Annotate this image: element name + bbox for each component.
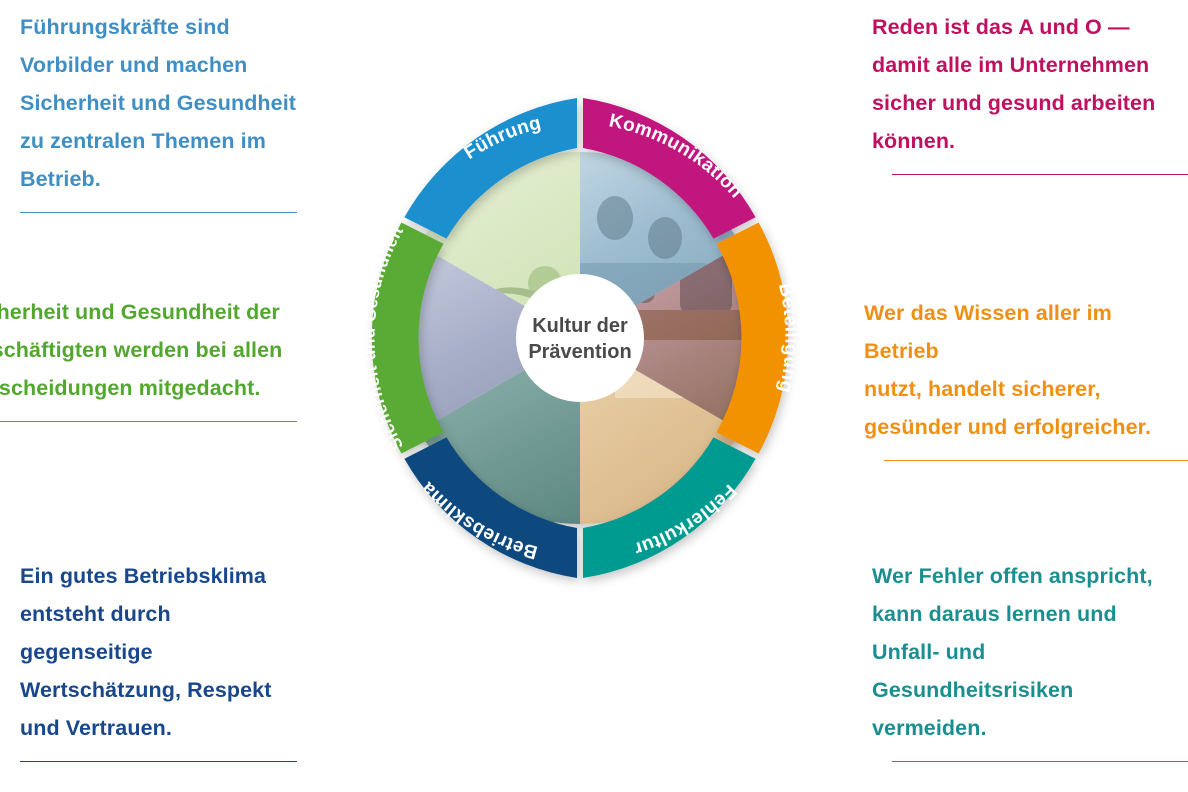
text-block-fuehrung-body: Führungskräfte sind Vorbilder und machen… [20, 8, 297, 198]
text-block-betriebsklima-body: Ein gutes Betriebsklima entsteht durch g… [20, 557, 297, 747]
text-block-sicherheit: Sicherheit und Gesundheit der Beschäftig… [0, 293, 297, 422]
text-block-fehlerkultur: Wer Fehler offen anspricht, kann daraus … [872, 557, 1188, 762]
text-block-fuehrung: Führungskräfte sind Vorbilder und machen… [20, 8, 297, 213]
prevention-culture-wheel: Führung Kommunikation Beteiligung Fehler… [330, 78, 830, 598]
text-block-sicherheit-rule [0, 421, 297, 422]
text-block-beteiligung-rule [884, 460, 1188, 461]
text-block-beteiligung: Wer das Wissen aller im Betrieb nutzt, h… [864, 294, 1188, 461]
text-block-kommunikation-body: Reden ist das A und O — damit alle im Un… [872, 8, 1188, 160]
text-block-fuehrung-rule [20, 212, 297, 213]
text-block-kommunikation-rule [892, 174, 1188, 175]
text-block-fehlerkultur-body: Wer Fehler offen anspricht, kann daraus … [872, 557, 1188, 747]
hub-title-line2: Prävention [528, 341, 631, 363]
text-block-fehlerkultur-rule [892, 761, 1188, 762]
text-block-sicherheit-body: Sicherheit und Gesundheit der Beschäftig… [0, 293, 297, 407]
text-block-betriebsklima: Ein gutes Betriebsklima entsteht durch g… [20, 557, 297, 762]
wheel-hub [516, 274, 644, 402]
text-block-betriebsklima-rule [20, 761, 297, 762]
infographic-canvas: Führungskräfte sind Vorbilder und machen… [0, 0, 1188, 792]
text-block-kommunikation: Reden ist das A und O — damit alle im Un… [872, 8, 1188, 175]
hub-title-line1: Kultur der [532, 315, 628, 337]
text-block-beteiligung-body: Wer das Wissen aller im Betrieb nutzt, h… [864, 294, 1188, 446]
